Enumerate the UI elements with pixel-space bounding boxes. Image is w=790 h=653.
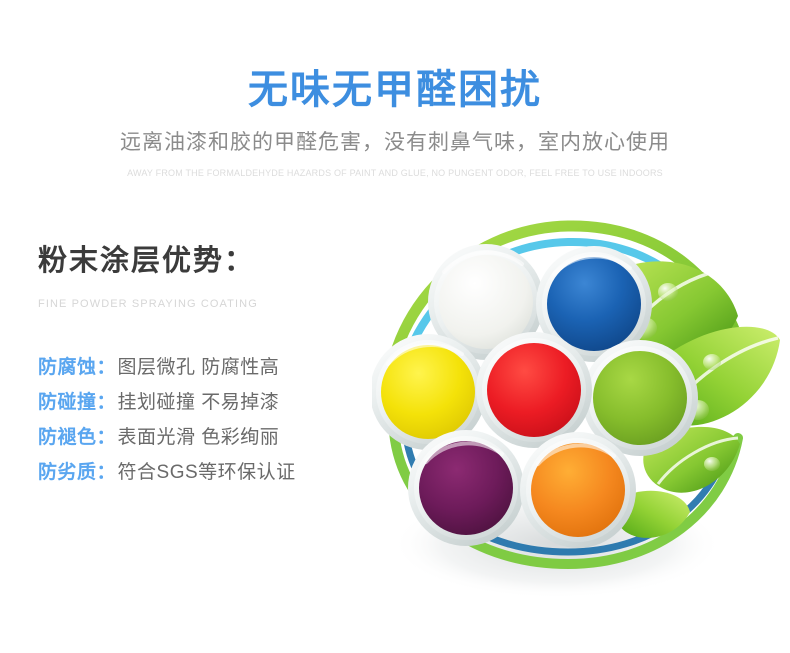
feature-separator: ：	[97, 352, 116, 379]
page-title: 无味无甲醛困扰	[0, 0, 790, 112]
page-subtitle: 远离油漆和胶的甲醛危害，没有刺鼻气味，室内放心使用	[0, 112, 790, 155]
feature-key: 防褪色	[38, 422, 97, 449]
orange-powder-jar	[520, 432, 636, 548]
feature-key: 防腐蚀	[38, 352, 97, 379]
list-item: 防碰撞 ： 挂划碰撞 不易掉漆	[38, 387, 368, 422]
feature-value: 挂划碰撞 不易掉漆	[118, 387, 280, 414]
promo-banner-page: 无味无甲醛困扰 远离油漆和胶的甲醛危害，没有刺鼻气味，室内放心使用 AWAY F…	[0, 0, 790, 653]
header-block: 无味无甲醛困扰 远离油漆和胶的甲醛危害，没有刺鼻气味，室内放心使用 AWAY F…	[0, 0, 790, 178]
feature-separator: ：	[97, 457, 116, 484]
feature-separator: ：	[97, 387, 116, 414]
section-title-english: FINE POWDER SPRAYING COATING	[38, 279, 368, 310]
water-droplet	[658, 283, 678, 301]
section-title: 粉末涂层优势：	[38, 244, 368, 279]
feature-separator: ：	[97, 422, 116, 449]
feature-list: 防腐蚀 ： 图层微孔 防腐性高 防碰撞 ： 挂划碰撞 不易掉漆 防褪色 ： 表面…	[38, 310, 368, 492]
red-powder-jar	[476, 332, 592, 448]
water-droplet	[704, 457, 720, 471]
feature-key: 防碰撞	[38, 387, 97, 414]
list-item: 防腐蚀 ： 图层微孔 防腐性高	[38, 352, 368, 387]
product-image	[372, 212, 782, 612]
feature-value: 表面光滑 色彩绚丽	[118, 422, 280, 449]
list-item: 防劣质 ： 符合SGS等环保认证	[38, 457, 368, 492]
feature-key: 防劣质	[38, 457, 97, 484]
list-item: 防褪色 ： 表面光滑 色彩绚丽	[38, 422, 368, 457]
feature-value: 图层微孔 防腐性高	[118, 352, 280, 379]
water-droplet	[703, 354, 721, 370]
purple-powder-jar	[408, 430, 524, 546]
feature-value: 符合SGS等环保认证	[118, 457, 296, 484]
page-subtitle-english: AWAY FROM THE FORMALDEHYDE HAZARDS OF PA…	[0, 155, 790, 178]
advantages-column: 粉末涂层优势： FINE POWDER SPRAYING COATING 防腐蚀…	[38, 244, 368, 492]
